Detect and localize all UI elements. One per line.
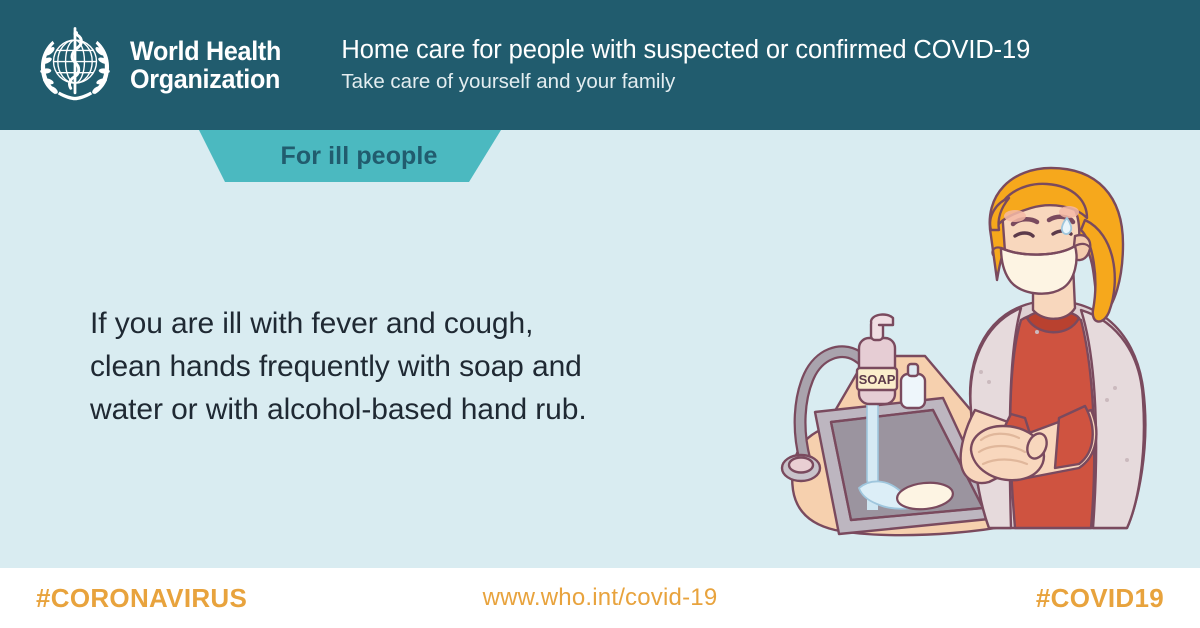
faucet-handle-top	[789, 458, 813, 473]
who-covid19-infographic: World Health Organization Home care for …	[0, 0, 1200, 628]
who-logo: World Health Organization	[32, 22, 292, 108]
soap-label: SOAP	[859, 372, 896, 387]
who-wordmark: World Health Organization	[130, 37, 281, 93]
body-copy: If you are ill with fever and cough, cle…	[90, 302, 710, 431]
who-wordmark-line1: World Health	[130, 37, 281, 65]
ribbon-shape	[199, 130, 501, 182]
who-emblem-icon	[32, 22, 118, 108]
footer-url[interactable]: www.who.int/covid-19	[0, 584, 1200, 612]
blush-left	[1004, 210, 1026, 222]
for-ill-people-ribbon: For ill people	[199, 130, 501, 182]
body-copy-line-2: clean hands frequently with soap and	[90, 345, 710, 388]
who-wordmark-line2: Organization	[130, 65, 281, 93]
body-copy-line-1: If you are ill with fever and cough,	[90, 302, 710, 345]
footer-hashtag-covid19: #COVID19	[1036, 583, 1164, 614]
header-subtitle: Take care of yourself and your family	[341, 69, 1030, 95]
soap-dispenser: SOAP	[857, 315, 897, 404]
header-text-block: Home care for people with suspected or c…	[341, 35, 1030, 94]
woman-washing-hands-illustration: SOAP	[775, 160, 1195, 560]
header-bar: World Health Organization Home care for …	[0, 0, 1200, 130]
footer-bar: #CORONAVIRUS www.who.int/covid-19 #COVID…	[0, 568, 1200, 628]
header-title: Home care for people with suspected or c…	[341, 35, 1030, 66]
body-copy-line-3: water or with alcohol-based hand rub.	[90, 388, 710, 431]
illustration-artwork: SOAP	[775, 160, 1195, 560]
blush-right	[1059, 206, 1079, 218]
